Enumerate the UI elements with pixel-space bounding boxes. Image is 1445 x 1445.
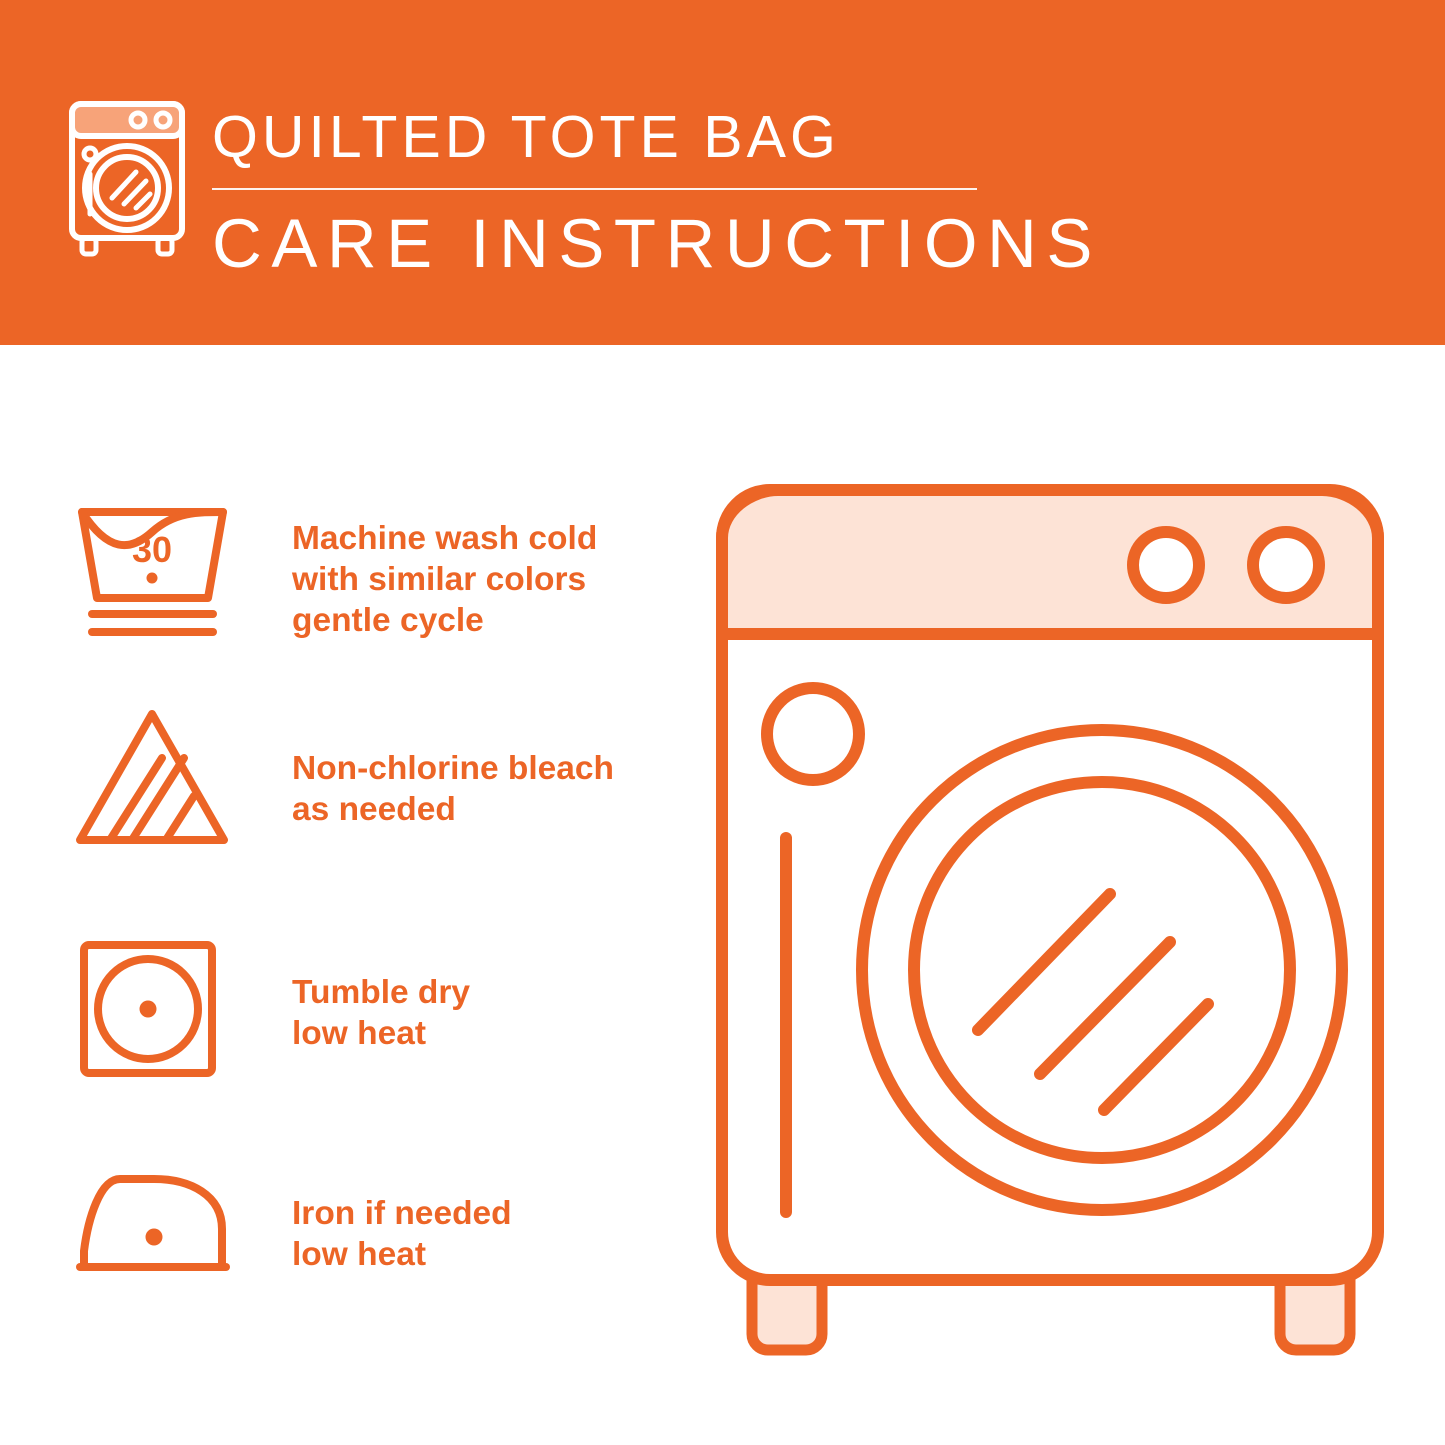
wash-tub-icon: 30 bbox=[70, 490, 235, 655]
svg-text:30: 30 bbox=[132, 529, 172, 570]
iron-icon bbox=[70, 1145, 235, 1310]
non-chlorine-bleach-triangle-icon bbox=[70, 700, 235, 865]
care-item-label: Iron if needed low heat bbox=[292, 1193, 512, 1275]
care-instruction-list: 30 Machine wash cold with similar colors… bbox=[0, 345, 700, 1445]
care-item-label: Non-chlorine bleach as needed bbox=[292, 748, 614, 830]
care-item-label: Machine wash cold with similar colors ge… bbox=[292, 518, 597, 641]
title-divider bbox=[212, 188, 977, 190]
header-banner: QUILTED TOTE BAG CARE INSTRUCTIONS bbox=[0, 0, 1445, 345]
care-item-label: Tumble dry low heat bbox=[292, 972, 470, 1054]
header-text-block: QUILTED TOTE BAG CARE INSTRUCTIONS bbox=[212, 104, 1212, 281]
washing-machine-icon bbox=[66, 98, 188, 258]
page-title: QUILTED TOTE BAG bbox=[212, 104, 1212, 170]
page-subtitle: CARE INSTRUCTIONS bbox=[212, 207, 1212, 281]
tumble-dry-icon bbox=[70, 925, 235, 1090]
front-load-washing-machine-illustration bbox=[710, 470, 1390, 1370]
